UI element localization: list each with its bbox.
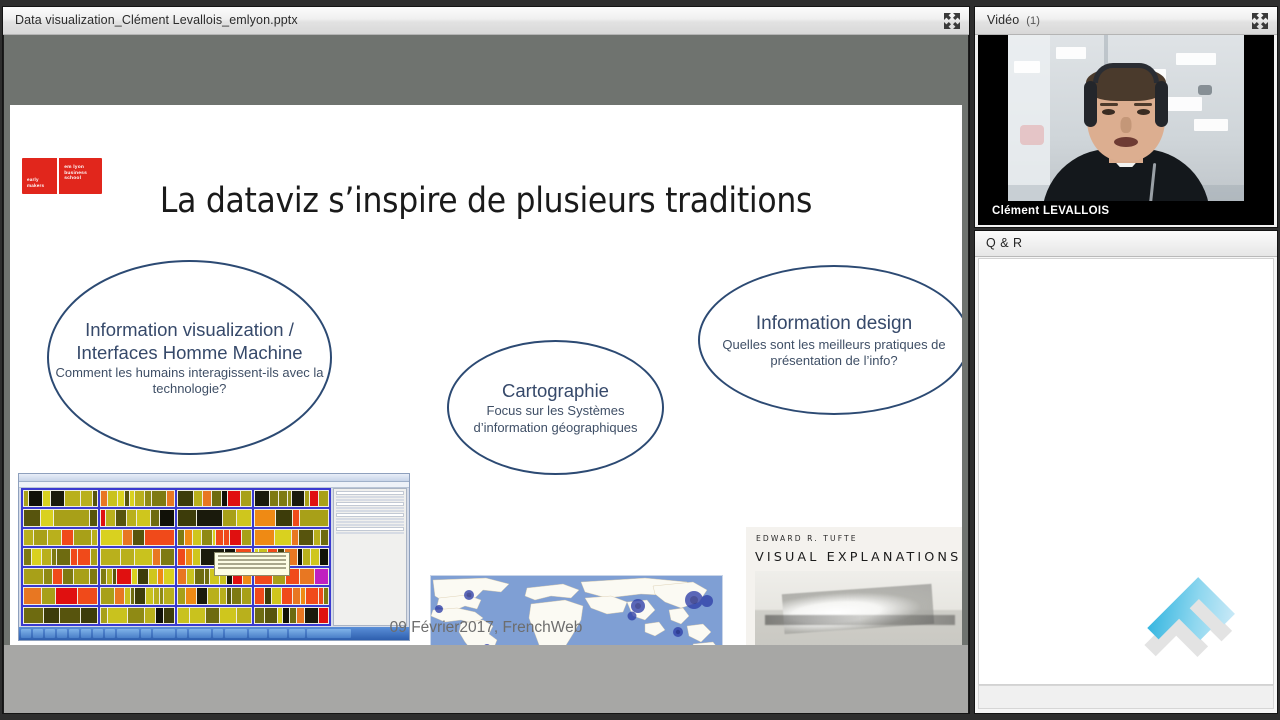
treemap-tile — [160, 510, 174, 525]
treemap-tile — [53, 569, 62, 584]
treemap-tile — [137, 510, 150, 525]
treemap-tile — [212, 491, 221, 506]
treemap-group — [100, 548, 175, 565]
treemap-tile — [186, 588, 197, 603]
treemap-tile — [101, 510, 105, 525]
treemap-tile — [275, 530, 290, 545]
treemap-window-titlebar — [19, 474, 409, 482]
treemap-tile — [63, 569, 74, 584]
treemap-tile — [127, 510, 136, 525]
treemap-tile — [300, 569, 314, 584]
treemap-tile — [74, 569, 89, 584]
fullscreen-icon[interactable] — [1251, 12, 1269, 30]
treemap-group — [254, 529, 329, 546]
treemap-tile — [293, 510, 299, 525]
video-window: Vidéo(1) — [974, 6, 1278, 228]
treemap-tile — [121, 549, 134, 564]
treemap-tile — [24, 491, 28, 506]
treemap-tile — [193, 549, 200, 564]
treemap-tile — [152, 491, 166, 506]
treemap-tile — [230, 530, 240, 545]
treemap-tile — [193, 530, 200, 545]
treemap-tile — [298, 549, 303, 564]
treemap-tile — [135, 588, 145, 603]
treemap-tile — [24, 510, 40, 525]
treemap-tile — [185, 530, 193, 545]
qa-input-bar[interactable] — [978, 685, 1274, 709]
frenchweb-logo-watermark — [1137, 566, 1265, 685]
treemap-tile — [29, 491, 42, 506]
treemap-tile — [135, 491, 145, 506]
qa-titlebar: Q & R — [975, 231, 1277, 257]
treemap-tile — [101, 588, 114, 603]
treemap-tile — [101, 549, 120, 564]
treemap-tile — [116, 510, 126, 525]
treemap-tile — [57, 549, 71, 564]
treemap-tile — [44, 569, 51, 584]
slide-title: La dataviz s’inspire de plusieurs tradit… — [10, 181, 962, 221]
treemap-tile — [71, 549, 77, 564]
treemap-tile — [138, 569, 148, 584]
treemap-tile — [242, 530, 251, 545]
treemap-tile — [62, 530, 73, 545]
treemap-tile — [65, 491, 80, 506]
treemap-tile — [315, 569, 328, 584]
treemap-tile — [92, 530, 97, 545]
oval-heading: Information visualization / Interfaces H… — [49, 318, 330, 364]
treemap-tile — [272, 588, 281, 603]
treemap-tile — [78, 588, 97, 603]
treemap-tile — [90, 510, 98, 525]
treemap-tile — [81, 491, 91, 506]
treemap-tile — [303, 549, 310, 564]
treemap-tile — [108, 491, 117, 506]
treemap-tile — [270, 491, 278, 506]
treemap-tile — [54, 510, 88, 525]
treemap-tile — [107, 569, 112, 584]
treemap-tile — [178, 491, 193, 506]
oval-heading: Information design — [756, 311, 912, 336]
treemap-tile — [145, 491, 151, 506]
oval-information-visualization: Information visualization / Interfaces H… — [47, 260, 332, 455]
webinar-player: Data visualization_Clément Levallois_eml… — [0, 0, 1280, 720]
treemap-tile — [255, 588, 264, 603]
treemap-tile — [227, 588, 231, 603]
treemap-group — [100, 509, 175, 526]
treemap-group — [23, 548, 98, 565]
treemap-tile — [178, 569, 186, 584]
treemap-tile — [117, 569, 131, 584]
treemap-tile — [319, 588, 323, 603]
treemap-tile — [145, 530, 174, 545]
treemap-tile — [123, 530, 131, 545]
treemap-tile — [202, 530, 212, 545]
treemap-group — [23, 529, 98, 546]
video-title-text: Vidéo — [987, 13, 1019, 27]
treemap-tile — [78, 549, 90, 564]
treemap-tile — [101, 569, 106, 584]
treemap-tile — [135, 549, 152, 564]
treemap-tile — [197, 510, 223, 525]
book-title: VISUAL EXPLANATIONS — [755, 550, 962, 565]
treemap-tile — [113, 569, 116, 584]
treemap-tile — [41, 510, 54, 525]
book-author: EDWARD R. TUFTE — [756, 534, 858, 543]
treemap-tile — [42, 549, 51, 564]
webcam-image — [1008, 35, 1244, 225]
treemap-tile — [203, 491, 212, 506]
treemap-tile — [154, 588, 158, 603]
treemap-tile — [276, 510, 292, 525]
presentation-window: Data visualization_Clément Levallois_eml… — [2, 6, 970, 714]
treemap-group — [177, 509, 252, 526]
treemap-tile — [43, 491, 50, 506]
treemap-group — [100, 587, 175, 604]
treemap-tile — [34, 530, 47, 545]
treemap-tile — [241, 491, 251, 506]
slide-stage: early makers em lyon business school La … — [4, 35, 968, 713]
treemap-group — [100, 490, 175, 507]
oval-information-design: Information design Quelles sont les meil… — [698, 265, 962, 415]
treemap-tile — [321, 530, 328, 545]
treemap-tile — [146, 588, 153, 603]
qa-window: Q & R — [974, 230, 1278, 714]
treemap-tile — [153, 549, 160, 564]
treemap-tile — [178, 530, 184, 545]
treemap-tile — [224, 530, 229, 545]
video-count: (1) — [1026, 15, 1040, 27]
treemap-tile — [279, 491, 287, 506]
oval-cartographie: Cartographie Focus sur les Systèmes d’in… — [447, 340, 664, 475]
qa-title: Q & R — [986, 231, 1023, 256]
oval-subtext: Comment les humains interagissent-ils av… — [49, 365, 330, 398]
treemap-tile — [24, 569, 43, 584]
treemap-tooltip — [214, 552, 290, 576]
treemap-tile — [106, 510, 115, 525]
treemap-tile — [24, 530, 33, 545]
treemap-tile — [242, 588, 251, 603]
treemap-tile — [131, 588, 135, 603]
participant-name: Clément LEVALLOIS — [992, 205, 1109, 217]
treemap-tile — [255, 491, 269, 506]
treemap-tile — [216, 530, 224, 545]
treemap-tile — [101, 491, 107, 506]
video-titlebar: Vidéo(1) — [975, 7, 1277, 35]
treemap-group — [23, 587, 98, 604]
treemap-tile — [292, 491, 304, 506]
treemap-group — [23, 509, 98, 526]
treemap-group — [177, 529, 252, 546]
treemap-group — [177, 587, 252, 604]
treemap-tile — [52, 549, 56, 564]
participant-name-bar: Clément LEVALLOIS — [978, 201, 1274, 225]
treemap-tile — [310, 491, 318, 506]
letterbox-bottom — [4, 645, 968, 713]
treemap-tile — [151, 510, 160, 525]
treemap-tile — [208, 588, 219, 603]
treemap-tile — [164, 569, 174, 584]
treemap-tile — [158, 569, 163, 584]
treemap-tile — [118, 491, 124, 506]
treemap-tile — [160, 588, 163, 603]
treemap-tile — [93, 491, 97, 506]
treemap-tile — [213, 530, 215, 545]
treemap-tile — [178, 588, 185, 603]
treemap-column — [100, 490, 175, 624]
treemap-tile — [24, 588, 41, 603]
treemap-tile — [265, 588, 270, 603]
treemap-tile — [101, 530, 122, 545]
treemap-tile — [167, 491, 174, 506]
treemap-tile — [74, 530, 91, 545]
treemap-tile — [232, 588, 241, 603]
treemap-tile — [132, 569, 137, 584]
treemap-tile — [161, 549, 174, 564]
treemap-tile — [197, 588, 206, 603]
treemap-tile — [48, 530, 61, 545]
treemap-tile — [51, 491, 64, 506]
treemap-tile — [255, 530, 274, 545]
treemap-tile — [228, 491, 240, 506]
oval-heading: Cartographie — [502, 379, 609, 402]
oval-subtext: Focus sur les Systèmes d’information géo… — [449, 403, 662, 436]
treemap-tile — [324, 588, 328, 603]
treemap-tile — [311, 549, 319, 564]
treemap-group — [23, 490, 98, 507]
treemap-tile — [24, 549, 31, 564]
treemap-screenshot-image — [18, 473, 410, 641]
slide-footer: 09 Février2017, FrenchWeb — [10, 619, 962, 637]
treemap-tile — [282, 588, 292, 603]
treemap-tile — [320, 549, 328, 564]
treemap-column — [23, 490, 98, 624]
treemap-tile — [314, 530, 320, 545]
treemap-tile — [115, 588, 124, 603]
fullscreen-icon[interactable] — [943, 12, 961, 30]
presentation-titlebar: Data visualization_Clément Levallois_eml… — [3, 7, 969, 35]
treemap-tile — [186, 549, 192, 564]
treemap-tile — [91, 549, 97, 564]
treemap-group — [100, 529, 175, 546]
treemap-tile — [90, 569, 97, 584]
treemap-group — [254, 509, 329, 526]
treemap-group — [177, 490, 252, 507]
treemap-tile — [237, 510, 251, 525]
treemap-group — [254, 490, 329, 507]
treemap-tile — [125, 491, 128, 506]
treemap-tile — [223, 510, 236, 525]
treemap-group — [23, 568, 98, 585]
treemap-group — [100, 568, 175, 585]
treemap-tile — [195, 569, 204, 584]
treemap-tile — [130, 491, 134, 506]
treemap-tile — [32, 549, 41, 564]
treemap-tile — [164, 588, 174, 603]
slide-canvas: early makers em lyon business school La … — [10, 105, 962, 645]
treemap-tile — [133, 530, 145, 545]
presentation-title: Data visualization_Clément Levallois_eml… — [15, 7, 298, 34]
treemap-tile — [220, 588, 226, 603]
treemap-tile — [222, 491, 227, 506]
treemap-options-panel — [333, 488, 407, 626]
treemap-tile — [305, 491, 309, 506]
treemap-group — [254, 587, 329, 604]
treemap-tile — [194, 491, 202, 506]
treemap-tile — [299, 530, 313, 545]
treemap-tile — [288, 491, 291, 506]
treemap-tile — [205, 569, 209, 584]
oval-subtext: Quelles sont les meilleurs pratiques de … — [700, 337, 962, 370]
treemap-tile — [42, 588, 54, 603]
treemap-tile — [292, 530, 299, 545]
treemap-tile — [293, 588, 300, 603]
treemap-tile — [56, 588, 78, 603]
treemap-tile — [149, 569, 157, 584]
treemap-tile — [319, 491, 328, 506]
treemap-tile — [301, 588, 305, 603]
treemap-tile — [300, 510, 328, 525]
logo-right-text: em lyon business school — [64, 165, 102, 182]
video-title: Vidéo(1) — [987, 7, 1040, 35]
treemap-tile — [255, 510, 275, 525]
letterbox-top — [4, 35, 968, 105]
qa-message-list[interactable] — [978, 258, 1274, 685]
treemap-tile — [125, 588, 129, 603]
treemap-tile — [178, 549, 185, 564]
treemap-tile — [306, 588, 318, 603]
treemap-tile — [178, 510, 196, 525]
treemap-tile — [187, 569, 194, 584]
video-feed[interactable]: Clément LEVALLOIS — [978, 35, 1274, 225]
